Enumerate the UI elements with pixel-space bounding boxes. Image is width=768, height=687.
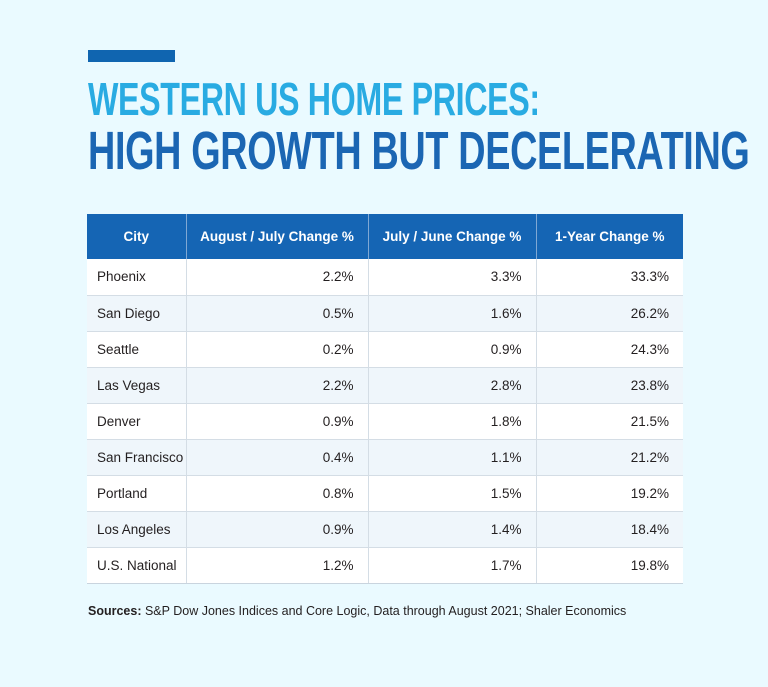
cell-aug-jul: 2.2% — [186, 367, 368, 403]
cell-aug-jul: 2.2% — [186, 259, 368, 295]
column-header-city: City — [87, 214, 186, 259]
cell-aug-jul: 0.9% — [186, 511, 368, 547]
cell-one-year: 24.3% — [536, 331, 683, 367]
cell-aug-jul: 0.9% — [186, 403, 368, 439]
table-body: Phoenix 2.2% 3.3% 33.3% San Diego 0.5% 1… — [87, 259, 683, 583]
cell-city: Phoenix — [87, 259, 186, 295]
cell-jul-jun: 1.6% — [368, 295, 536, 331]
cell-one-year: 23.8% — [536, 367, 683, 403]
cell-city: U.S. National — [87, 547, 186, 583]
column-header-aug-jul: August / July Change % — [186, 214, 368, 259]
cell-jul-jun: 1.4% — [368, 511, 536, 547]
page-title-line-2: High Growth But Decelerating — [88, 124, 536, 178]
cell-one-year: 21.2% — [536, 439, 683, 475]
cell-city: Los Angeles — [87, 511, 186, 547]
page-title: Western US Home Prices: High Growth But … — [88, 76, 728, 178]
cell-jul-jun: 1.8% — [368, 403, 536, 439]
table-row: Portland 0.8% 1.5% 19.2% — [87, 475, 683, 511]
cell-aug-jul: 0.2% — [186, 331, 368, 367]
cell-aug-jul: 1.2% — [186, 547, 368, 583]
home-prices-table: City August / July Change % July / June … — [87, 214, 683, 584]
cell-jul-jun: 2.8% — [368, 367, 536, 403]
source-note-label: Sources: — [88, 604, 142, 618]
page-title-line-1: Western US Home Prices: — [88, 76, 536, 122]
table-row: Denver 0.9% 1.8% 21.5% — [87, 403, 683, 439]
table-row: San Francisco 0.4% 1.1% 21.2% — [87, 439, 683, 475]
cell-city: Seattle — [87, 331, 186, 367]
title-accent-bar — [88, 50, 175, 62]
source-note: Sources: S&P Dow Jones Indices and Core … — [88, 604, 626, 618]
cell-jul-jun: 1.1% — [368, 439, 536, 475]
table-row: Seattle 0.2% 0.9% 24.3% — [87, 331, 683, 367]
table-row: Phoenix 2.2% 3.3% 33.3% — [87, 259, 683, 295]
table-header: City August / July Change % July / June … — [87, 214, 683, 259]
infographic-page: Western US Home Prices: High Growth But … — [0, 0, 768, 687]
cell-city: San Francisco — [87, 439, 186, 475]
cell-jul-jun: 1.7% — [368, 547, 536, 583]
table-row: Los Angeles 0.9% 1.4% 18.4% — [87, 511, 683, 547]
cell-city: Las Vegas — [87, 367, 186, 403]
column-header-one-year: 1-Year Change % — [536, 214, 683, 259]
cell-city: Denver — [87, 403, 186, 439]
cell-one-year: 19.2% — [536, 475, 683, 511]
cell-city: San Diego — [87, 295, 186, 331]
table-row: Las Vegas 2.2% 2.8% 23.8% — [87, 367, 683, 403]
cell-one-year: 33.3% — [536, 259, 683, 295]
cell-aug-jul: 0.4% — [186, 439, 368, 475]
cell-one-year: 21.5% — [536, 403, 683, 439]
table-row: U.S. National 1.2% 1.7% 19.8% — [87, 547, 683, 583]
cell-one-year: 18.4% — [536, 511, 683, 547]
cell-one-year: 26.2% — [536, 295, 683, 331]
cell-jul-jun: 1.5% — [368, 475, 536, 511]
cell-jul-jun: 0.9% — [368, 331, 536, 367]
table-row: San Diego 0.5% 1.6% 26.2% — [87, 295, 683, 331]
source-note-text: S&P Dow Jones Indices and Core Logic, Da… — [142, 604, 627, 618]
cell-jul-jun: 3.3% — [368, 259, 536, 295]
table-header-row: City August / July Change % July / June … — [87, 214, 683, 259]
cell-aug-jul: 0.8% — [186, 475, 368, 511]
cell-aug-jul: 0.5% — [186, 295, 368, 331]
home-prices-table-container: City August / July Change % July / June … — [87, 214, 683, 584]
column-header-jul-jun: July / June Change % — [368, 214, 536, 259]
cell-city: Portland — [87, 475, 186, 511]
cell-one-year: 19.8% — [536, 547, 683, 583]
